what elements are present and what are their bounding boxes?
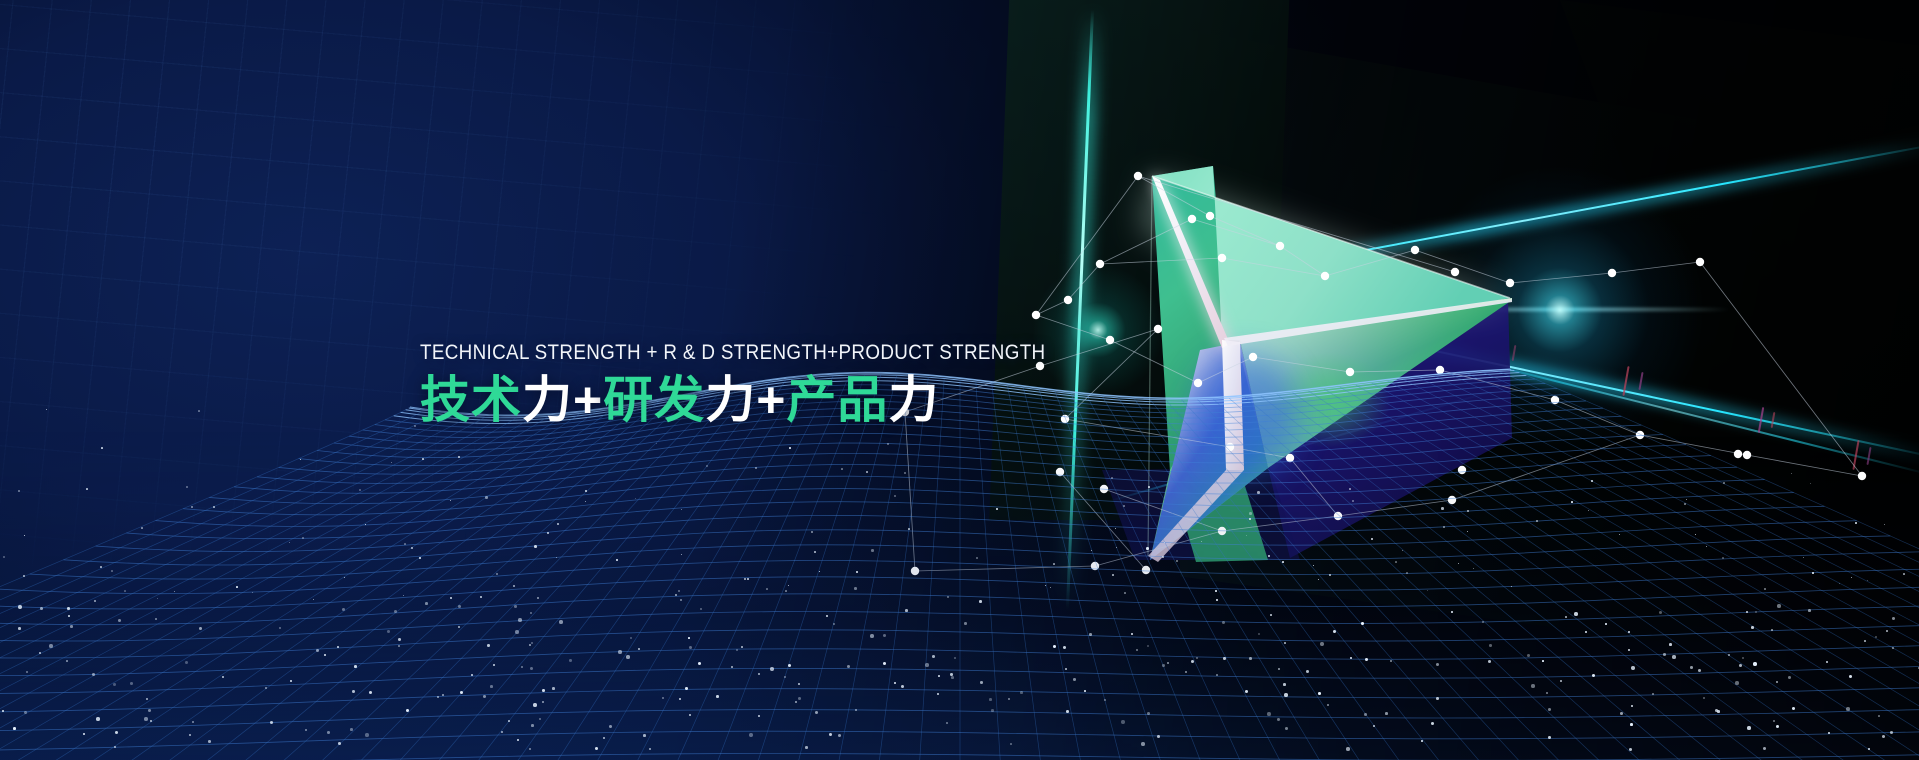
particle-dot (1436, 697, 1439, 700)
particle-dot (350, 728, 353, 731)
particle-dot (111, 570, 113, 572)
particle-dot (39, 652, 41, 654)
particle-dot (789, 447, 791, 449)
particle-dot (798, 683, 800, 685)
particle-dot (980, 681, 983, 684)
particle-dot (442, 694, 444, 696)
wave-mesh-line-vertical (1309, 391, 1903, 760)
wave-mesh-line-vertical (0, 410, 406, 760)
particle-dot (716, 695, 719, 698)
network-node (1218, 254, 1226, 262)
particle-dot (1053, 645, 1056, 648)
particle-dot (18, 605, 22, 609)
particle-dot (1121, 720, 1125, 724)
headline-english: TECHNICAL STRENGTH + R & D STRENGTH+PROD… (420, 340, 963, 365)
particle-dot (144, 717, 148, 721)
particle-dot (1282, 561, 1284, 563)
particle-dot (1157, 735, 1160, 738)
particle-dot (680, 599, 682, 601)
particle-dot (1864, 640, 1866, 642)
network-edge (1100, 219, 1192, 264)
network-edge (1612, 262, 1700, 273)
particle-dot (618, 650, 622, 654)
particle-dot (1318, 579, 1319, 580)
particle-dot (458, 626, 460, 628)
wave-mesh-line-vertical (531, 378, 801, 760)
particle-dot (741, 646, 743, 648)
particle-dot (1123, 505, 1125, 507)
particle-dot (552, 687, 555, 690)
particle-dot (521, 666, 523, 668)
particle-dot (1588, 510, 1589, 511)
wave-mesh-line-vertical (317, 390, 722, 760)
particle-dot (1131, 633, 1133, 635)
particle-dot (1846, 707, 1850, 711)
particle-dot (458, 456, 460, 458)
network-node (1096, 260, 1104, 268)
wave-mesh-line-vertical (1514, 371, 1919, 760)
wave-mesh-line-vertical (0, 417, 532, 760)
particle-dot (1542, 660, 1544, 662)
headline-chinese-segment-0: 技术 (420, 372, 522, 428)
particle-dot (1222, 621, 1225, 624)
particle-dot (1352, 500, 1354, 502)
particle-dot (508, 720, 510, 722)
particle-dot (1560, 680, 1562, 682)
particle-dot (630, 637, 632, 639)
particle-dot (342, 608, 345, 611)
network-node (1608, 269, 1616, 277)
particle-dot (1735, 681, 1739, 685)
particle-dot (1346, 747, 1350, 751)
particle-dot (1467, 531, 1468, 532)
particle-dot (1527, 654, 1530, 657)
network-node (1506, 279, 1514, 287)
particle-dot (485, 496, 488, 499)
particle-dot (1812, 572, 1814, 574)
particle-dot (1839, 583, 1840, 584)
particle-dot (585, 490, 587, 492)
particle-dot (490, 685, 493, 688)
wave-mesh-line-vertical (617, 376, 833, 760)
particle-dot (1349, 488, 1351, 490)
particle-dot (894, 682, 896, 684)
particle-dot (1010, 743, 1012, 745)
network-node (1451, 268, 1459, 276)
particle-dot (1196, 657, 1198, 659)
particle-dot (327, 731, 330, 734)
particle-dot (1669, 643, 1672, 646)
particle-dot (67, 607, 70, 610)
wave-mesh-line-vertical (146, 401, 659, 760)
particle-dot (141, 527, 143, 529)
network-edge (1100, 258, 1222, 264)
particle-dot (1777, 604, 1781, 608)
network-edge (1210, 216, 1280, 246)
particle-dot (749, 733, 753, 737)
particle-dot (1605, 623, 1607, 625)
particle-dot (854, 587, 857, 590)
particle-dot (1162, 664, 1165, 667)
particle-dot (531, 642, 533, 644)
particle-dot (100, 566, 102, 568)
wave-mesh-line-vertical (0, 414, 580, 760)
wave-mesh-line-vertical (1340, 387, 1919, 760)
particle-dot (265, 687, 267, 689)
particle-dot (1531, 684, 1535, 688)
particle-dot (685, 687, 688, 690)
particle-dot (1630, 723, 1633, 726)
particle-dot (979, 600, 982, 603)
particle-dot (113, 683, 116, 686)
particle-dot (155, 618, 157, 620)
headline-chinese-segment-7: 力 (888, 372, 939, 428)
particle-dot (236, 586, 238, 588)
wave-mesh-line (0, 704, 1919, 732)
particle-dot (1084, 690, 1086, 692)
wave-mesh-line-vertical (0, 412, 422, 760)
particle-dot (1747, 726, 1751, 730)
network-edge (1415, 250, 1510, 283)
particle-dot (626, 655, 630, 659)
particle-dot (1065, 668, 1067, 670)
particle-dot (1111, 477, 1113, 479)
particle-dot (425, 602, 428, 605)
particle-dot (951, 676, 954, 679)
network-node (1134, 172, 1142, 180)
particle-dot (1278, 668, 1280, 670)
wave-mesh-line-vertical (1277, 394, 1817, 760)
particle-dot (938, 675, 940, 677)
particle-dot (736, 649, 738, 651)
particle-dot (866, 471, 868, 473)
network-node (1411, 246, 1419, 254)
wave-mesh-line-vertical (1213, 399, 1645, 760)
wave-mesh-line-vertical (0, 415, 564, 760)
particle-dot (766, 588, 768, 590)
particle-dot (94, 600, 96, 602)
particle-dot (1620, 712, 1623, 715)
particle-dot (1684, 503, 1686, 505)
particle-dot (976, 557, 978, 559)
particle-dot (855, 709, 857, 711)
particle-dot (1574, 612, 1578, 616)
particle-dot (1717, 710, 1720, 713)
network-node (1206, 212, 1214, 220)
particle-dot (1267, 712, 1271, 716)
particle-dot (354, 665, 357, 668)
particle-dot (1631, 666, 1635, 670)
particle-dot (501, 731, 503, 733)
particle-dot (13, 727, 16, 730)
particle-dot (518, 618, 522, 622)
particle-dot (480, 596, 482, 598)
particle-dot (841, 468, 843, 470)
wave-mesh-line (0, 568, 1919, 609)
particle-dot (517, 739, 519, 741)
particle-dot (369, 691, 372, 694)
particle-dot (905, 609, 908, 612)
particle-dot (213, 506, 215, 508)
particle-dot (964, 622, 967, 625)
particle-dot (871, 549, 874, 552)
particle-dot (662, 697, 664, 699)
particle-dot (1489, 644, 1492, 647)
particle-dot (352, 690, 355, 693)
particle-dot (1878, 715, 1880, 717)
particle-dot (770, 667, 774, 671)
particle-dot (1808, 609, 1811, 612)
particle-dot (1571, 501, 1573, 503)
particle-dot (1703, 697, 1705, 699)
particle-dot (1855, 522, 1857, 524)
particle-dot (305, 729, 307, 731)
particle-dot (534, 545, 537, 548)
particle-dot (1406, 572, 1408, 574)
particle-dot (1146, 547, 1149, 550)
particle-dot (1739, 664, 1742, 667)
headline-chinese-segment-4: 力 (705, 372, 756, 428)
particle-dot (337, 646, 339, 648)
particle-dot (1385, 712, 1388, 715)
particle-dot (833, 623, 835, 625)
particle-dot (1216, 674, 1218, 676)
wave-mesh-line-vertical (0, 415, 453, 760)
network-edge (1222, 258, 1325, 276)
particle-dot (2, 710, 4, 712)
particle-dot (925, 663, 929, 667)
particle-dot (904, 472, 906, 474)
particle-dot (731, 666, 733, 668)
particle-dot (1066, 710, 1069, 713)
particle-dot (66, 660, 68, 662)
particle-dot (950, 673, 953, 676)
particle-dot (1201, 541, 1202, 542)
wave-mesh-line (0, 552, 1919, 594)
particle-dot (1249, 657, 1252, 660)
particle-dot (870, 634, 874, 638)
particle-dot (185, 661, 188, 664)
particle-dot (1284, 693, 1288, 697)
particle-dot (3, 556, 5, 558)
particle-dot (365, 733, 369, 737)
particle-dot (1249, 512, 1252, 515)
wave-mesh-line-vertical (574, 377, 817, 760)
particle-dot (559, 620, 563, 624)
particle-dot (989, 698, 992, 701)
particle-dot (222, 676, 224, 678)
particle-dot (1318, 692, 1321, 695)
particle-dot (1663, 653, 1666, 656)
particle-dot (1473, 568, 1474, 569)
particle-dot (1441, 507, 1444, 510)
particle-dot (542, 701, 544, 703)
particle-dot (815, 711, 818, 714)
particle-dot (124, 590, 126, 592)
particle-dot (755, 467, 757, 469)
particle-dot (487, 644, 490, 647)
wave-mesh-line-vertical (992, 384, 1046, 760)
network-edge (1138, 176, 1210, 216)
particle-dot (1215, 590, 1217, 592)
particle-dot (609, 725, 612, 728)
particle-dot (101, 447, 103, 449)
network-node (1064, 296, 1072, 304)
particle-dot (1591, 480, 1593, 482)
network-edge (1036, 176, 1138, 315)
particle-dot (1089, 633, 1092, 636)
wave-mesh-line-vertical (0, 417, 469, 760)
wave-mesh-line-vertical (446, 382, 770, 760)
particle-dot (471, 674, 473, 676)
particle-dot (422, 458, 424, 460)
wave-mesh-line-vertical (1055, 392, 1217, 760)
particle-dot (1124, 592, 1126, 594)
particle-dot (991, 709, 994, 712)
particle-dot (1371, 538, 1373, 540)
particle-dot (515, 630, 519, 634)
network-edge (1510, 273, 1612, 283)
wave-mesh-line-vertical (189, 398, 675, 760)
particle-dot (1892, 647, 1894, 649)
particle-dot (1548, 736, 1551, 739)
particle-dot (198, 410, 200, 412)
particle-dot (70, 625, 73, 628)
particle-dot (130, 682, 133, 685)
particle-dot (40, 607, 43, 610)
particle-dot (569, 659, 572, 662)
particle-dot (1672, 655, 1676, 659)
particle-dot (556, 557, 557, 558)
particle-dot (23, 575, 25, 577)
particle-dot (450, 597, 452, 599)
particle-dot (1073, 678, 1076, 681)
headline-chinese-segment-3: 研发 (603, 372, 705, 428)
particle-dot (688, 637, 690, 639)
particle-dot (359, 489, 361, 491)
particle-dot (86, 488, 88, 490)
particle-dot (1284, 642, 1286, 644)
particle-dot (514, 605, 517, 608)
headline-chinese-segment-5: + (756, 372, 786, 428)
particle-dot (1373, 725, 1375, 727)
particle-dot (191, 506, 193, 508)
network-node (1188, 215, 1196, 223)
particle-dot (1320, 642, 1324, 646)
particle-dot (118, 619, 121, 622)
particle-dot (1764, 588, 1766, 590)
particle-dot (1257, 491, 1260, 494)
particle-dot (908, 528, 910, 530)
headline-chinese: 技术力+研发力+产品力 (420, 373, 1040, 428)
particle-dot (92, 673, 95, 676)
particle-dot (186, 486, 188, 488)
particle-dot (414, 425, 416, 427)
particle-dot (747, 578, 749, 580)
particle-dot (1148, 486, 1150, 488)
particle-dot (1364, 713, 1367, 716)
particle-dot (1792, 707, 1795, 710)
particle-dot (1008, 698, 1010, 700)
particle-dot (1903, 573, 1905, 575)
particle-dot (1258, 633, 1260, 635)
particle-dot (1728, 654, 1730, 656)
network-node (1276, 242, 1284, 250)
wave-mesh-line-vertical (1293, 393, 1860, 760)
particle-dot (529, 748, 531, 750)
particle-dot (68, 615, 70, 617)
particle-dot (1875, 636, 1877, 638)
particle-dot (1890, 731, 1893, 734)
network-node (1321, 272, 1329, 280)
network-edge (1325, 250, 1415, 276)
particle-dot (1565, 616, 1567, 618)
particle-dot (404, 543, 406, 545)
particle-dot (1536, 520, 1538, 522)
particle-dot (758, 715, 760, 717)
particle-dot (1753, 662, 1757, 666)
particle-dot (398, 638, 401, 641)
particle-dot (785, 590, 787, 592)
network-edge (1280, 246, 1325, 276)
particle-dot (1771, 629, 1773, 631)
wave-mesh-line-vertical (1324, 389, 1919, 760)
particle-dot (542, 689, 545, 692)
particle-dot (49, 644, 53, 648)
wave-mesh-line-vertical (1039, 390, 1174, 760)
particle-dot (411, 547, 413, 549)
particle-dot (1329, 574, 1331, 576)
particle-dot (1112, 574, 1114, 576)
particle-dot (419, 557, 421, 559)
network-edge (1068, 264, 1100, 300)
headline-chinese-segment-2: + (573, 372, 603, 428)
particle-dot (1162, 556, 1164, 558)
particle-dot (96, 717, 100, 721)
particle-dot (946, 722, 948, 724)
particle-dot (1690, 666, 1693, 669)
particle-dot (208, 740, 211, 743)
particle-dot (1285, 727, 1288, 730)
particle-dot (1751, 626, 1754, 629)
particle-dot (643, 734, 646, 737)
particle-dot (437, 696, 439, 698)
headline-chinese-segment-1: 力 (522, 372, 573, 428)
particle-dot (18, 627, 21, 630)
network-edge (1138, 176, 1455, 272)
particle-dot (829, 733, 832, 736)
particle-dot (1361, 622, 1364, 625)
particle-dot (1443, 526, 1445, 528)
particle-dot (513, 585, 515, 587)
particle-dot (954, 657, 956, 659)
wave-mesh-line (0, 622, 1919, 658)
headline-chinese-segment-6: 产品 (786, 372, 888, 428)
particle-dot (1746, 611, 1748, 613)
particle-dot (1763, 747, 1766, 750)
particle-dot (1020, 691, 1023, 694)
particle-dot (1659, 611, 1662, 614)
wave-mesh-line-vertical (1229, 398, 1688, 760)
particle-dot (1482, 621, 1484, 623)
particle-dot (805, 746, 808, 749)
particle-dot (798, 697, 801, 700)
particle-dot (1892, 617, 1895, 620)
wave-mesh-line-vertical (660, 375, 849, 760)
particle-dot (1886, 630, 1888, 632)
particle-dot (1283, 683, 1286, 686)
particle-dot (1270, 614, 1272, 616)
